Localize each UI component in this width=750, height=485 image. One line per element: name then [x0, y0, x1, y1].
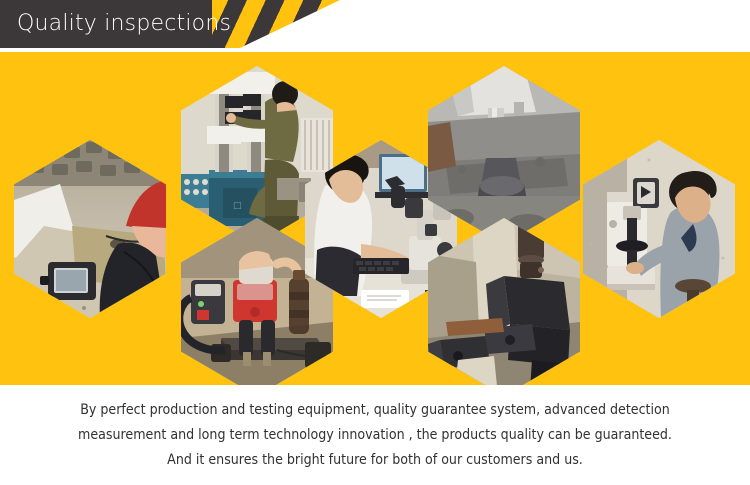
- banner-footer: By perfect production and testing equipm…: [0, 385, 750, 485]
- svg-text:□: □: [233, 201, 242, 211]
- footer-description: By perfect production and testing equipm…: [0, 398, 750, 473]
- hexagon-gallery: □: [0, 52, 750, 385]
- hazard-stripes-decoration: [212, 0, 340, 48]
- photo-ultrasonic-flaw-detection: [14, 140, 166, 318]
- banner-header: Quality inspections: [0, 0, 340, 48]
- hex-photo-rockwell-hardness-tester: [583, 140, 735, 318]
- quality-inspections-banner: Quality inspections: [0, 0, 750, 485]
- page-title: Quality inspections: [17, 9, 231, 39]
- footer-line-2: measurement and long term technology inn…: [11, 423, 739, 448]
- footer-line-1: By perfect production and testing equipm…: [11, 398, 739, 423]
- photo-rockwell-hardness-tester: [583, 140, 735, 318]
- footer-line-3: And it ensures the bright future for bot…: [11, 448, 739, 473]
- hex-photo-ultrasonic-flaw-detection: [14, 140, 166, 318]
